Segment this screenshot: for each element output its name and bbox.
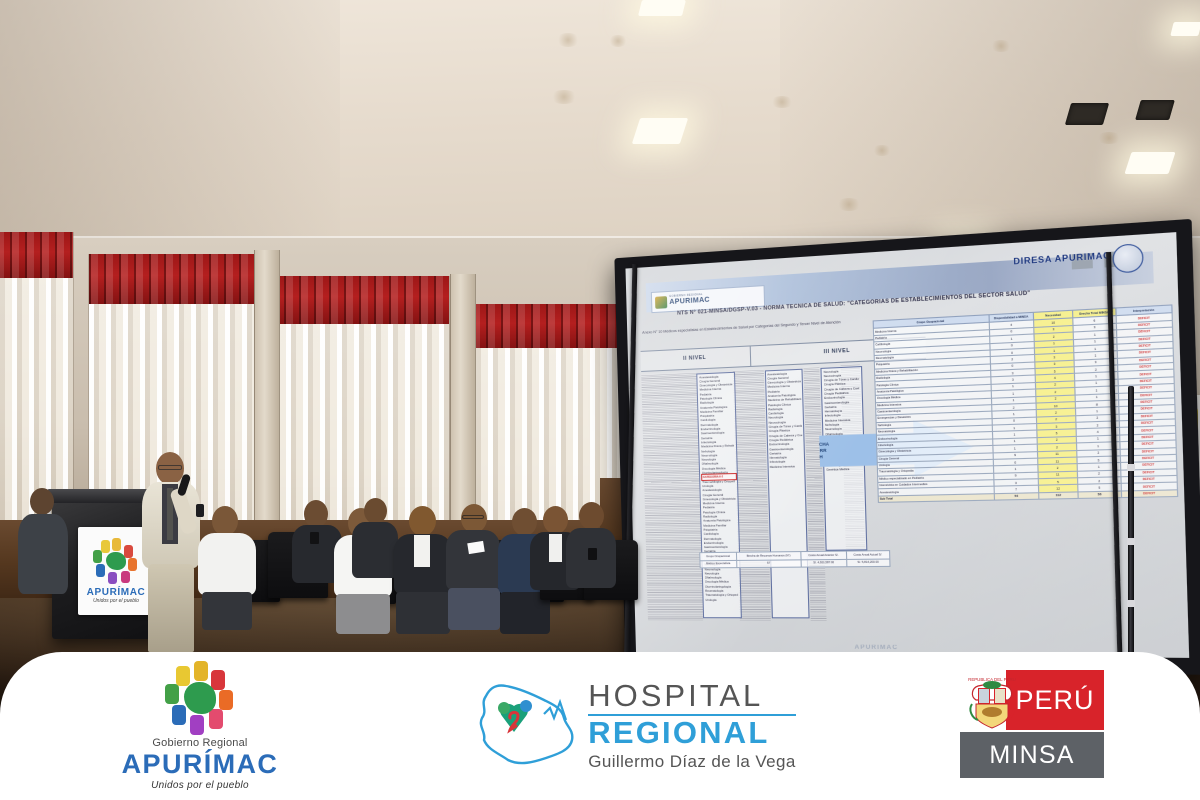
ceiling-light bbox=[638, 0, 686, 16]
podium-label-tagline: Unidos por el pueblo bbox=[93, 598, 139, 604]
speaker-trousers bbox=[148, 564, 194, 652]
emblem-petal bbox=[124, 545, 133, 558]
specialty-item: Genética Médica bbox=[826, 467, 862, 472]
mic-stand-knob bbox=[1127, 538, 1135, 545]
projection-screen: GOBIERNO REGIONAL APURIMAC DIRESA APURIM… bbox=[620, 258, 1150, 668]
emblem-petal bbox=[211, 670, 225, 690]
cost-cell: 57 bbox=[737, 560, 802, 568]
attendee-head bbox=[212, 506, 238, 536]
attendee bbox=[446, 504, 504, 616]
screen-surface: GOBIERNO REGIONAL APURIMAC DIRESA APURIM… bbox=[625, 232, 1189, 658]
total-cell: Sub Total bbox=[878, 493, 994, 502]
cost-table: Grupo Ocupacional Brecha de Recursos Hum… bbox=[699, 550, 890, 568]
specialty-item: Medicina Intensiva bbox=[770, 464, 803, 469]
attendee-torso bbox=[198, 533, 256, 595]
attendee-shirt bbox=[414, 535, 430, 567]
emblem-petal bbox=[93, 550, 102, 563]
slide-logo-mark bbox=[655, 296, 667, 309]
speaker-glasses-icon bbox=[158, 465, 182, 470]
ceiling-stain bbox=[550, 90, 578, 104]
mic-stand-knob bbox=[1127, 464, 1135, 471]
emblem-petal bbox=[219, 690, 233, 710]
attendee-legs bbox=[396, 592, 450, 634]
attendee-head bbox=[579, 502, 604, 530]
gore-main-label: APURÍMAC bbox=[122, 751, 279, 778]
attendee-glasses-icon bbox=[462, 515, 484, 519]
emblem-petal bbox=[194, 661, 208, 681]
hospital-line1: HOSPITAL bbox=[588, 680, 796, 712]
microphone-stand bbox=[1128, 386, 1134, 666]
hospital-regional-logo: HOSPITAL REGIONAL Guillermo Díaz de la V… bbox=[400, 652, 870, 800]
nivel-column-header: II NIVEL bbox=[640, 346, 751, 371]
specialty-item: Urología bbox=[705, 597, 738, 601]
cost-table-row: Médico Especialista57S/. 4,301,587.00S/.… bbox=[700, 559, 890, 568]
attendee bbox=[196, 506, 258, 618]
podium-apurimac-emblem bbox=[93, 538, 139, 584]
presentation-photo: APURIMAC Gobierno Regional GOBIERNO REGI… bbox=[0, 0, 1200, 800]
slide-dense-text-block bbox=[641, 371, 704, 621]
emblem-petal bbox=[190, 715, 204, 735]
attendee-head bbox=[364, 498, 387, 524]
ceiling-stain bbox=[608, 35, 628, 47]
callout-line: II-2 bbox=[719, 475, 723, 478]
attendee-phone bbox=[310, 532, 319, 544]
hospital-line2: REGIONAL bbox=[588, 717, 796, 749]
gore-tagline: Unidos por el pueblo bbox=[151, 780, 249, 791]
attendee-legs bbox=[202, 592, 252, 630]
peru-minsa-logo: PERÚ REPUBLICA DEL PERU bbox=[870, 652, 1200, 800]
cost-cell: S/. 4,301,587.00 bbox=[801, 559, 847, 567]
ceiling-stain bbox=[872, 145, 892, 156]
attendee-legs bbox=[336, 594, 390, 634]
apurimac-map-svg bbox=[474, 678, 578, 774]
peru-label: PERÚ bbox=[1015, 685, 1094, 716]
ceiling-light bbox=[632, 118, 688, 144]
emblem-center-map bbox=[184, 682, 216, 714]
ceiling-stain bbox=[836, 198, 862, 211]
gore-sub-label: Gobierno Regional bbox=[152, 737, 247, 749]
mic-stand-knob bbox=[1127, 600, 1135, 607]
footer-logo-bar: Gobierno Regional APURÍMAC Unidos por el… bbox=[0, 652, 1200, 800]
minsa-label: MINSA bbox=[989, 741, 1074, 770]
slide-logo-name: APURIMAC bbox=[669, 297, 710, 307]
attendee-phone bbox=[588, 548, 597, 560]
gore-apurimac-logo: Gobierno Regional APURÍMAC Unidos por el… bbox=[0, 652, 400, 800]
curtain-valance bbox=[89, 254, 255, 308]
slide-category-callout: CATEGORIA II-2 bbox=[701, 473, 737, 480]
curtain-valance bbox=[269, 276, 449, 328]
callout-line: CATEGORIA bbox=[703, 475, 719, 478]
curtain-valance bbox=[0, 232, 73, 282]
emblem-petal bbox=[96, 564, 105, 577]
ceiling-stain bbox=[556, 33, 580, 47]
cost-cell: Médico Especialista bbox=[700, 560, 737, 568]
ceiling-stain bbox=[770, 96, 794, 108]
emblem-petal bbox=[101, 540, 110, 553]
emblem-petal bbox=[165, 684, 179, 704]
minsa-gray-block: MINSA bbox=[960, 732, 1104, 778]
peru-shield-svg: REPUBLICA DEL PERU bbox=[966, 674, 1018, 730]
emblem-center-map bbox=[106, 552, 126, 570]
ceiling-vent bbox=[1065, 103, 1109, 125]
emblem-petal bbox=[108, 572, 117, 584]
peru-coat-of-arms-icon: REPUBLICA DEL PERU bbox=[966, 674, 1018, 730]
attendee bbox=[392, 506, 454, 622]
attendee-legs bbox=[448, 588, 500, 630]
slide-content: GOBIERNO REGIONAL APURIMAC DIRESA APURIM… bbox=[625, 232, 1189, 658]
ceiling-vent bbox=[1135, 100, 1175, 120]
ceiling-stain bbox=[1096, 132, 1122, 144]
attendee-torso bbox=[18, 514, 68, 594]
ceiling-light bbox=[1124, 152, 1175, 174]
nivel3-specialty-list: AnestesiologíaCirugía GeneralGinecología… bbox=[764, 368, 809, 619]
ceiling-stain bbox=[990, 40, 1012, 52]
nivel2-specialty-list: AnestesiologíaCirugía GeneralGinecología… bbox=[697, 371, 742, 618]
total-cell: 54 bbox=[994, 493, 1039, 501]
hospital-map-outline-icon bbox=[474, 678, 578, 774]
attendee-shirt bbox=[549, 534, 562, 562]
ceiling-light bbox=[1170, 22, 1200, 36]
attendee-head bbox=[409, 506, 436, 536]
attendee-head bbox=[543, 506, 568, 534]
attendee-head bbox=[30, 488, 54, 515]
hospital-line3: Guillermo Díaz de la Vega bbox=[588, 752, 796, 772]
attendee bbox=[566, 502, 620, 614]
emblem-petal bbox=[172, 705, 186, 725]
total-cell: 112 bbox=[1039, 492, 1079, 500]
peru-red-block: PERÚ bbox=[1006, 670, 1104, 730]
cost-cell: S/. 5,814,200.00 bbox=[846, 559, 890, 567]
emblem-petal bbox=[176, 666, 190, 686]
emblem-petal bbox=[112, 538, 121, 551]
attendee-torso bbox=[446, 530, 500, 590]
emblem-petal bbox=[209, 709, 223, 729]
attendee-behind-podium bbox=[18, 488, 70, 598]
emblem-petal bbox=[121, 571, 130, 583]
cost-table-body: Médico Especialista57S/. 4,301,587.00S/.… bbox=[700, 559, 890, 568]
slide-watermark: APURIMAC bbox=[854, 645, 898, 652]
attendee-head bbox=[304, 500, 328, 528]
gore-emblem bbox=[163, 661, 237, 735]
slide-anexo-line: Anexo N° 10 Médicos especialistas en Est… bbox=[642, 320, 851, 336]
